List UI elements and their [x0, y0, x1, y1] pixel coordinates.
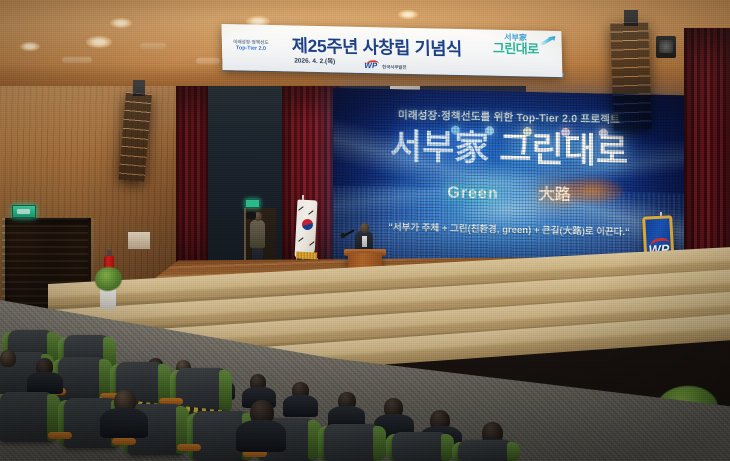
banner-tagline-bottom: Top-Tier 2.0 [228, 45, 274, 53]
cwp-company-name: 한국서부발전 [382, 64, 406, 71]
event-banner: 미래성장·정책선도 Top-Tier 2.0 제25주년 사창립 기념식 202… [221, 24, 562, 77]
auditorium-photo: 미래성장·정책선도를 위한 Top-Tier 2.0 프로젝트 서부家그린대로 … [0, 0, 730, 461]
ceiling-vent-slot [62, 57, 92, 63]
banner-tagline: 미래성장·정책선도 Top-Tier 2.0 [228, 39, 274, 52]
audience-head [0, 350, 16, 367]
audience-shoulders [100, 408, 148, 438]
presenter-head [360, 223, 369, 233]
downlight-icon [20, 42, 40, 51]
ceiling-vent-slot [196, 58, 220, 64]
audience-shoulders [236, 420, 286, 452]
event-photographer [250, 220, 265, 248]
seat-armrest [177, 444, 201, 451]
audience-shoulders [27, 372, 63, 394]
auditorium-seat[interactable] [58, 357, 106, 401]
downlight-icon [110, 18, 132, 28]
audience-shoulders [283, 395, 318, 417]
seat-armrest [48, 432, 72, 439]
downlight-icon [398, 10, 418, 19]
ceiling-vent-slot [140, 43, 166, 49]
cwp-swoosh-icon [366, 60, 380, 70]
banner-date: 2026. 4. 2.(목) [294, 55, 335, 66]
banner-company-logo: WP한국서부발전 [364, 55, 407, 74]
exit-sign-icon [245, 199, 260, 208]
downlight-icon [86, 36, 112, 48]
auditorium-seat[interactable] [0, 392, 54, 442]
camera-icon [246, 212, 256, 219]
auditorium-seat[interactable] [392, 432, 448, 461]
wall-notice-plate [127, 231, 151, 250]
stage-spotlight-icon [656, 36, 676, 58]
exit-sign-icon [12, 205, 36, 218]
auditorium-seat[interactable] [458, 440, 514, 461]
seat-armrest [112, 438, 136, 445]
auditorium-seat[interactable] [324, 424, 380, 461]
presenter-shirt [362, 236, 367, 247]
potted-plant-left-pot [100, 288, 116, 309]
line-array-speaker-right [610, 21, 652, 130]
stage-curtain-left [176, 86, 208, 278]
